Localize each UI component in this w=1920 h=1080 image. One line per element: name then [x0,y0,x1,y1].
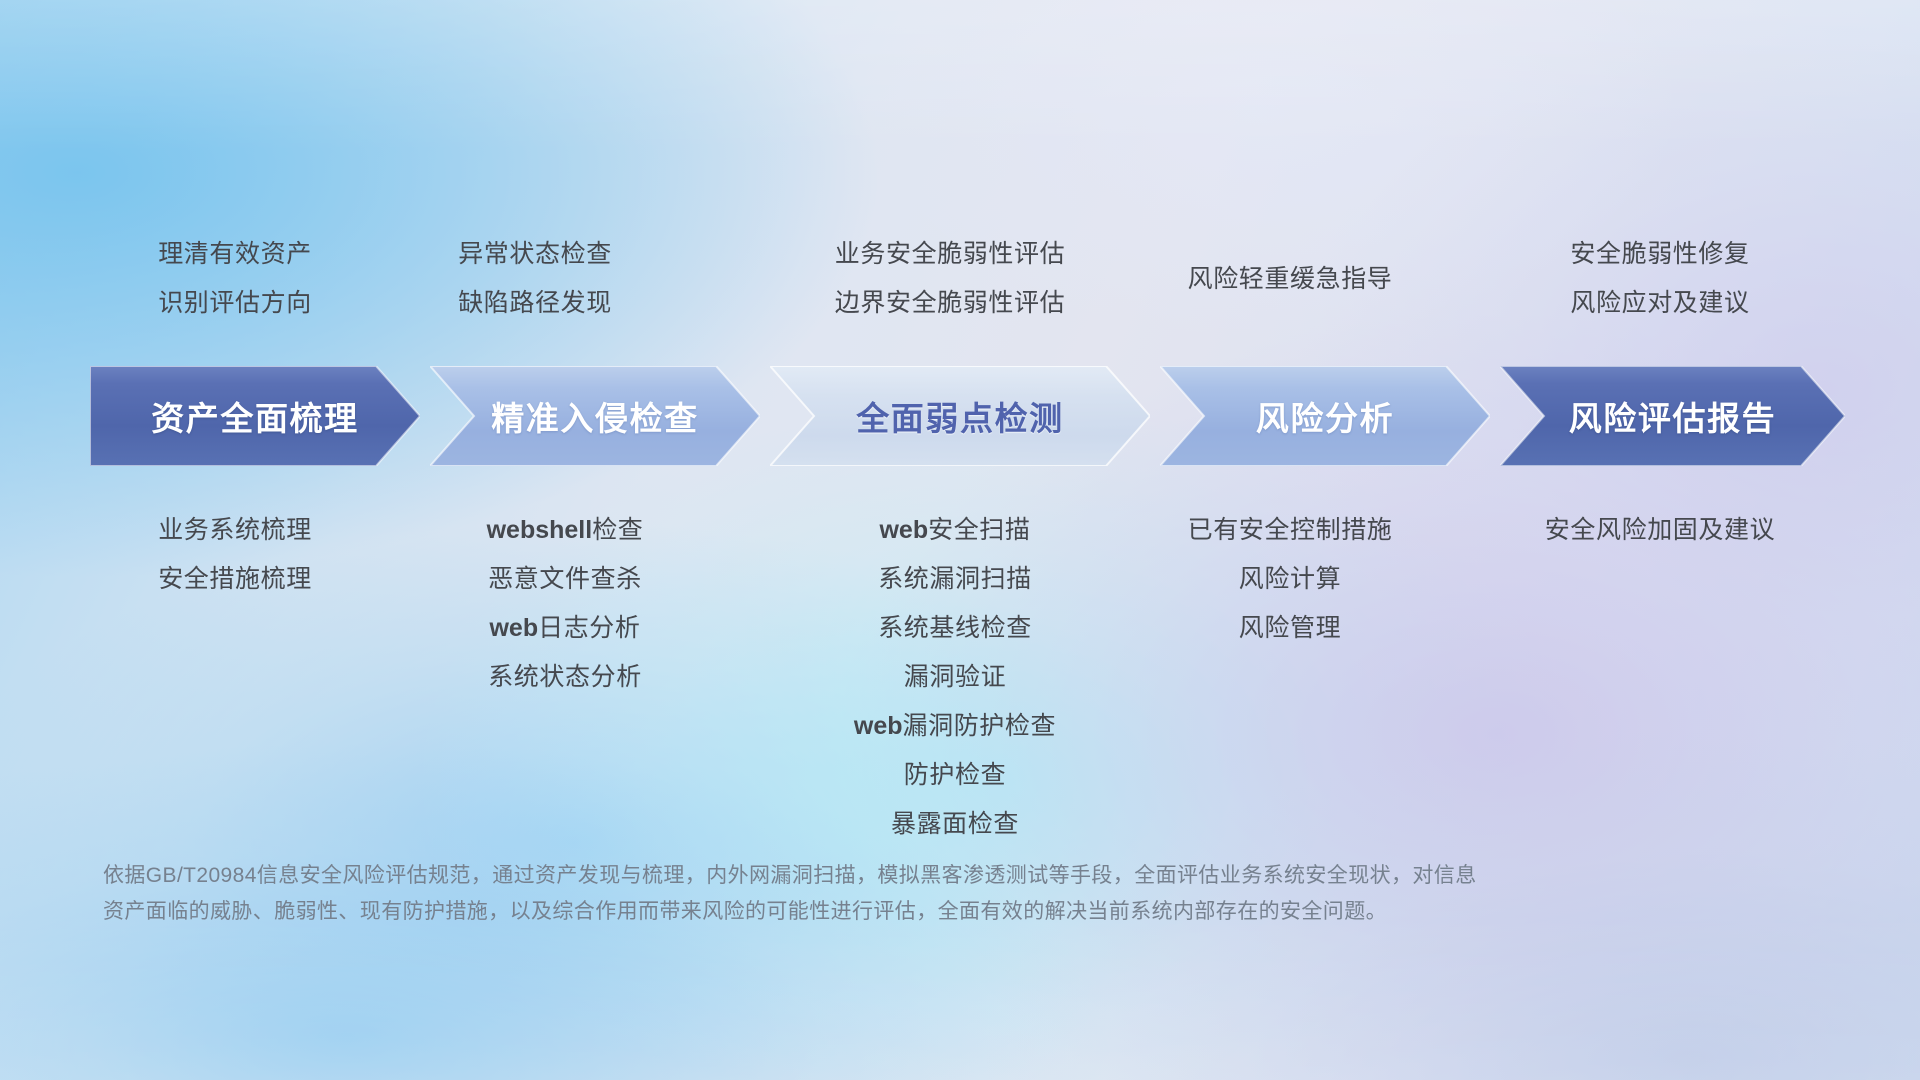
stage-tasks-asset-inventory: 业务系统梳理 安全措施梳理 [40,506,430,604]
stage-outputs-asset-inventory: 理清有效资产 识别评估方向 [40,230,430,328]
output-item: 风险应对及建议 [1470,279,1850,328]
stage-tasks-weakness-detection: web安全扫描 系统漏洞扫描 系统基线检查 漏洞验证 web漏洞防护检查 防护检… [775,506,1135,849]
task-text: 风险计算 [1239,565,1341,593]
task-item: 恶意文件查杀 [415,555,715,604]
task-strong: web [489,614,538,642]
task-item: 风险管理 [1095,604,1485,653]
process-diagram: 理清有效资产 识别评估方向 异常状态检查 缺陷路径发现 业务安全脆弱性评估 边界… [0,0,1920,1080]
chevron-stage-risk-analysis[interactable]: 风险分析 [1160,366,1490,466]
task-item: 安全措施梳理 [40,555,430,604]
task-text: 日志分析 [538,614,640,642]
footer-description: 依据GB/T20984信息安全风险评估规范，通过资产发现与梳理，内外网漏洞扫描，… [103,858,1603,930]
output-item: 识别评估方向 [40,279,430,328]
task-text: 恶意文件查杀 [488,565,642,593]
task-strong: web [879,516,928,544]
output-item: 理清有效资产 [40,230,430,279]
output-item: 风险轻重缓急指导 [1105,255,1475,304]
output-item: 异常状态检查 [385,230,685,279]
task-text: 漏洞验证 [904,663,1006,691]
task-text: 已有安全控制措施 [1188,516,1393,544]
task-item: webshell检查 [415,506,715,555]
task-text: 检查 [592,516,643,544]
footer-line-2: 资产面临的威胁、脆弱性、现有防护措施，以及综合作用而带来风险的可能性进行评估，全… [103,894,1603,930]
output-item: 边界安全脆弱性评估 [760,279,1140,328]
task-item: 系统漏洞扫描 [775,555,1135,604]
task-item: 安全风险加固及建议 [1450,506,1870,555]
chevron-stage-intrusion-check[interactable]: 精准入侵检查 [430,366,760,466]
stage-tasks-risk-analysis: 已有安全控制措施 风险计算 风险管理 [1095,506,1485,653]
task-text: 风险管理 [1239,614,1341,642]
process-chevron-band: 资产全面梳理 精准入侵检查 [0,366,1920,468]
chevron-label: 全面弱点检测 [856,392,1064,440]
task-text: 暴露面检查 [891,810,1019,838]
stage-outputs-risk-analysis: 风险轻重缓急指导 [1105,255,1475,304]
stage-outputs-intrusion-check: 异常状态检查 缺陷路径发现 [385,230,685,328]
stage-tasks-assessment-report: 安全风险加固及建议 [1450,506,1870,555]
task-item: 暴露面检查 [775,800,1135,849]
task-item: 防护检查 [775,751,1135,800]
task-item: 已有安全控制措施 [1095,506,1485,555]
task-text: 系统基线检查 [878,614,1032,642]
chevron-label: 风险分析 [1256,392,1394,440]
task-text: 业务系统梳理 [158,516,312,544]
chevron-label: 精准入侵检查 [491,392,699,440]
chevron-label: 资产全面梳理 [151,392,359,440]
output-item: 缺陷路径发现 [385,279,685,328]
output-item: 业务安全脆弱性评估 [760,230,1140,279]
chevron-stage-weakness-detection[interactable]: 全面弱点检测 [770,366,1150,466]
chevron-stage-assessment-report[interactable]: 风险评估报告 [1500,366,1845,466]
stage-outputs-weakness-detection: 业务安全脆弱性评估 边界安全脆弱性评估 [760,230,1140,328]
chevron-stage-asset-inventory[interactable]: 资产全面梳理 [90,366,420,466]
task-item: web安全扫描 [775,506,1135,555]
task-text: 安全扫描 [928,516,1030,544]
footer-line-1: 依据GB/T20984信息安全风险评估规范，通过资产发现与梳理，内外网漏洞扫描，… [103,858,1603,894]
task-strong: webshell [487,516,593,544]
task-text: 安全风险加固及建议 [1545,516,1775,544]
stage-outputs-assessment-report: 安全脆弱性修复 风险应对及建议 [1470,230,1850,328]
task-text: 系统漏洞扫描 [878,565,1032,593]
task-text: 安全措施梳理 [158,565,312,593]
task-text: 防护检查 [904,761,1006,789]
slide-canvas: 理清有效资产 识别评估方向 异常状态检查 缺陷路径发现 业务安全脆弱性评估 边界… [0,0,1920,1080]
task-item: 业务系统梳理 [40,506,430,555]
output-item: 安全脆弱性修复 [1470,230,1850,279]
chevron-label: 风险评估报告 [1569,392,1777,440]
task-item: web日志分析 [415,604,715,653]
task-item: 系统状态分析 [415,653,715,702]
task-item: 风险计算 [1095,555,1485,604]
task-strong: web [854,712,903,740]
task-text: 漏洞防护检查 [903,712,1057,740]
task-item: web漏洞防护检查 [775,702,1135,751]
task-item: 漏洞验证 [775,653,1135,702]
task-item: 系统基线检查 [775,604,1135,653]
task-text: 系统状态分析 [488,663,642,691]
stage-tasks-intrusion-check: webshell检查 恶意文件查杀 web日志分析 系统状态分析 [415,506,715,702]
